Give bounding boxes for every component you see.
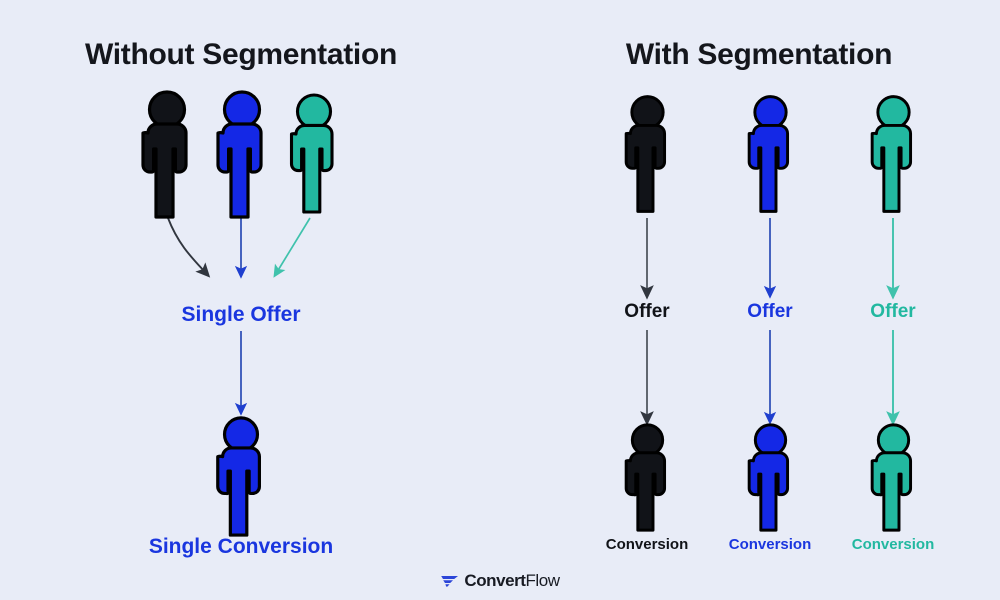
single-offer-label: Single Offer [0,304,482,325]
brand-name-light: Flow [526,571,560,590]
person-icon-teal-right-top [866,92,921,215]
person-icon-blue-right-conversion [743,422,798,532]
conversion-label-blue: Conversion [700,537,840,552]
arrow-teal-to-single-offer [277,218,310,272]
person-glyph [285,92,343,214]
offer-label-black: Offer [587,302,707,321]
convertflow-logo: ConvertFlow [0,571,1000,591]
person-icon-teal-right-conversion [866,422,921,532]
conversion-label-teal: Conversion [823,537,963,552]
right-offer-to-conversion-arrows [647,330,893,418]
person-icon-blue-left-2 [211,89,273,219]
brand-name-strong: Convert [464,571,525,590]
right-person-to-offer-arrows [647,218,893,292]
convertflow-speedlines-icon [440,574,459,589]
panel-title-without-segmentation: Without Segmentation [0,38,482,72]
person-icon-black-right-conversion [620,422,675,532]
left-converging-arrows [168,218,310,272]
offer-label-teal: Offer [833,302,953,321]
convertflow-wordmark: ConvertFlow [464,571,559,591]
person-glyph [743,92,798,215]
person-glyph [211,89,273,219]
single-conversion-label: Single Conversion [0,536,482,557]
person-icon-blue-single-conversion [210,415,272,537]
person-icon-black-right-top [620,92,675,215]
arrow-black-to-single-offer [168,218,205,272]
person-glyph [743,422,798,532]
panel-title-with-segmentation: With Segmentation [518,38,1000,72]
person-glyph [866,92,921,215]
person-glyph [136,89,198,219]
person-icon-teal-left-3 [285,92,343,214]
person-glyph [866,422,921,532]
person-glyph [620,422,675,532]
conversion-label-black: Conversion [577,537,717,552]
diagram-canvas: Without Segmentation With Segmentation [0,0,1000,600]
offer-label-blue: Offer [710,302,830,321]
person-icon-blue-right-top [743,92,798,215]
person-glyph [210,415,272,537]
person-glyph [620,92,675,215]
person-icon-black-left-1 [136,89,198,219]
